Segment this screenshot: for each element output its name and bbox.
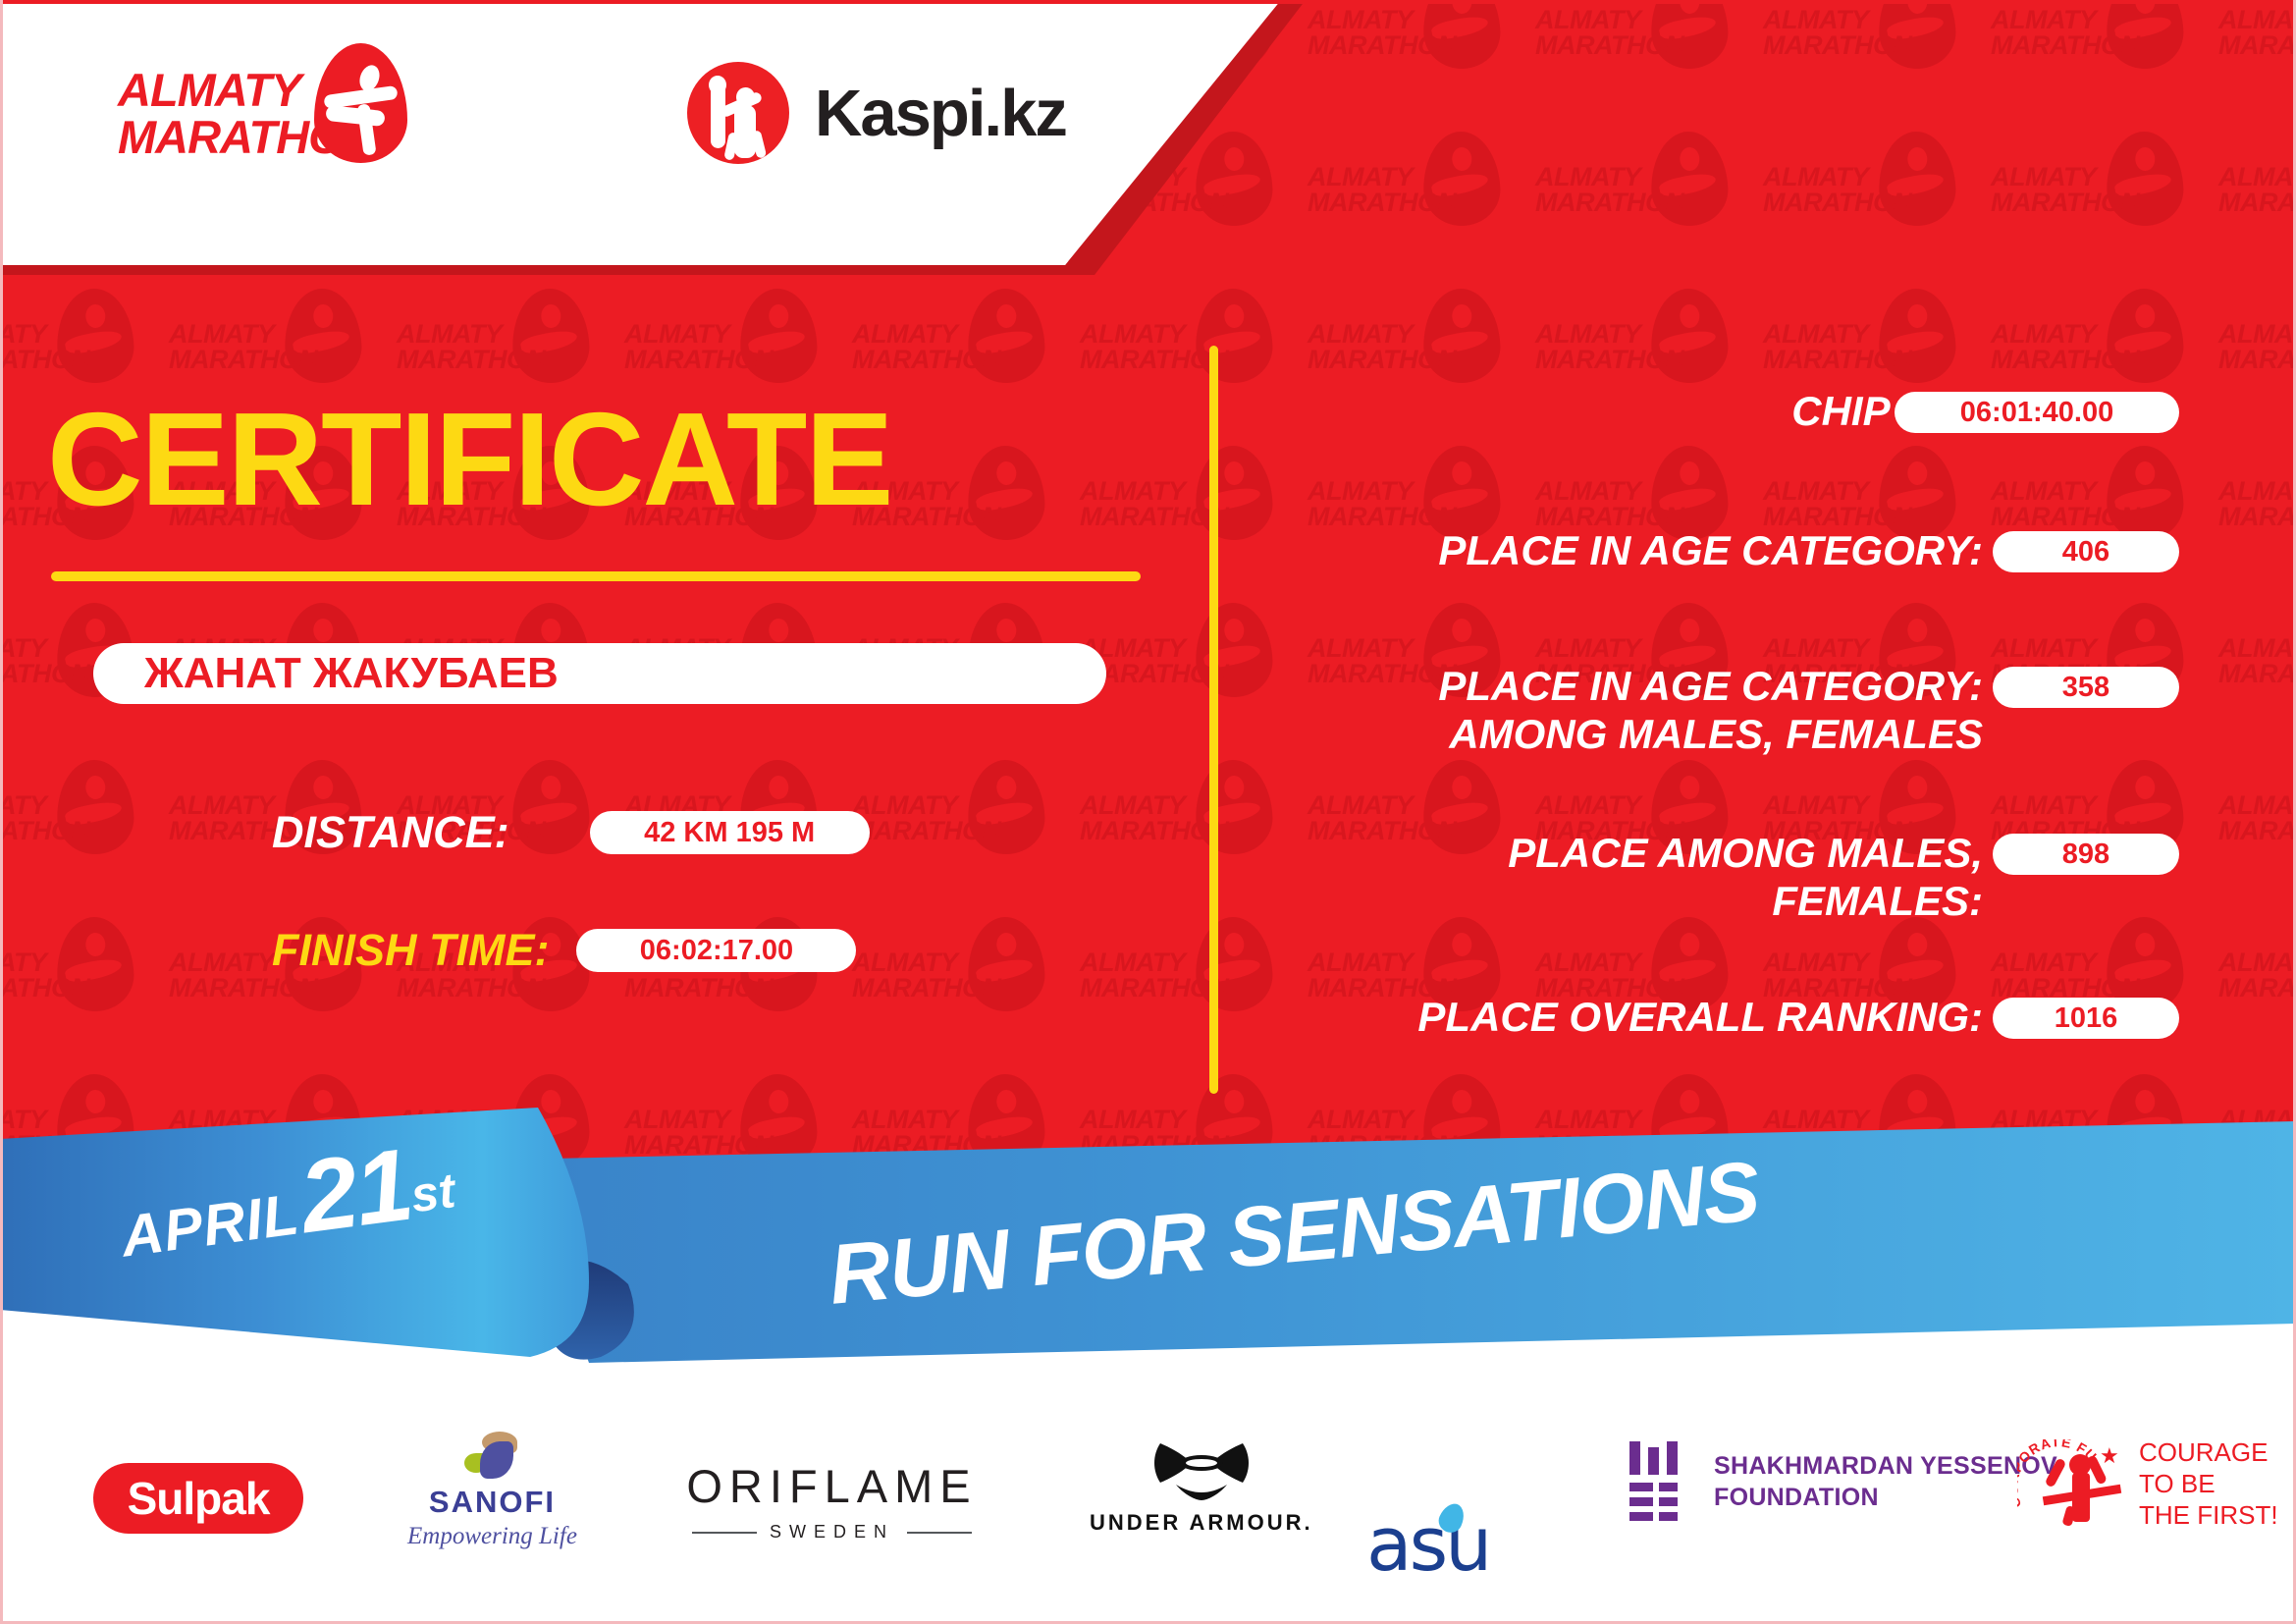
watermark-text: ALMATYMARATHON xyxy=(1080,793,1217,843)
watermark-tile: ALMATYMARATHON xyxy=(1763,442,1991,599)
participant-name-value: ЖАНАТ ЖАКУБАЕВ xyxy=(93,649,559,698)
watermark-text: ALMATYMARATHON xyxy=(1080,322,1217,372)
watermark-tile: ALMATYMARATHON xyxy=(852,913,1080,1070)
sanofi-blue-shape xyxy=(480,1441,513,1479)
watermark-text: ALMATYMARATHON xyxy=(0,636,79,686)
watermark-tile: ALMATYMARATHON xyxy=(1535,913,1763,1070)
certificate-page: ALMATYMARATHONALMATYMARATHONALMATYMARATH… xyxy=(0,0,2296,1624)
watermark-tile: ALMATYMARATHON xyxy=(2218,1070,2296,1227)
place-among-males-females-value: 898 xyxy=(1993,834,2179,875)
kaspi-child-head xyxy=(736,87,755,107)
watermark-text: ALMATYMARATHON xyxy=(1991,322,2128,372)
watermark-text: ALMATYMARATHON xyxy=(1991,8,2128,58)
sponsor-courage-to-be-the-first: CORPORATE FUND ★ COURAGE TO BE THE FIRST… xyxy=(2017,1434,2278,1536)
watermark-text: ALMATYMARATHON xyxy=(2218,322,2296,372)
watermark-tile: ALMATYMARATHON xyxy=(0,913,169,1070)
watermark-text: ALMATYMARATHON xyxy=(852,950,989,1001)
asu-wordmark: asu xyxy=(1366,1507,1489,1582)
star-icon: ★ xyxy=(2100,1445,2119,1467)
watermark-text: ALMATYMARATHON xyxy=(1308,479,1445,529)
courage-to-be-the-first-text: COURAGE TO BE THE FIRST! xyxy=(2139,1437,2278,1531)
watermark-text: ALMATYMARATHON xyxy=(1080,479,1217,529)
participant-name-field: ЖАНАТ ЖАКУБАЕВ xyxy=(93,643,1106,704)
ribbon-ordinal: st xyxy=(407,1163,457,1222)
sanofi-logo xyxy=(462,1432,521,1481)
kaspi-wordmark: Kaspi.kz xyxy=(815,81,1066,146)
sanofi-wordmark: SANOFI xyxy=(429,1487,556,1517)
watermark-tile: ALMATYMARATHON xyxy=(1763,0,1991,128)
courage-to-be-the-first-logo: CORPORATE FUND ★ xyxy=(2017,1434,2125,1536)
watermark-tile: ALMATYMARATHON xyxy=(2218,128,2296,285)
watermark-text: ALMATYMARATHON xyxy=(2218,636,2296,686)
watermark-text: ALMATYMARATHON xyxy=(0,793,79,843)
watermark-text: ALMATYMARATHON xyxy=(852,1108,989,1158)
sponsor-yessenov-foundation: SHAKHMARDAN YESSENOV FOUNDATION xyxy=(1629,1441,2057,1522)
watermark-text: ALMATYMARATHON xyxy=(2218,1108,2296,1158)
distance-value: 42 KM 195 M xyxy=(590,811,870,854)
watermark-tile: ALMATYMARATHON xyxy=(1535,0,1763,128)
sulpak-logo: Sulpak xyxy=(93,1463,303,1534)
watermark-text: ALMATYMARATHON xyxy=(2218,165,2296,215)
watermark-tile: ALMATYMARATHON xyxy=(2218,913,2296,1070)
watermark-text: ALMATYMARATHON xyxy=(1991,479,2128,529)
kaspi-family-circle-icon xyxy=(687,62,789,164)
sponsor-sanofi: SANOFI Empowering Life xyxy=(407,1432,577,1550)
watermark-text: ALMATYMARATHON xyxy=(1991,1108,2128,1158)
ribbon-day: 21 xyxy=(294,1128,417,1256)
watermark-tile: ALMATYMARATHON xyxy=(0,756,169,913)
ribbon-month: APRIL xyxy=(118,1181,303,1269)
finish-time-row: FINISH TIME: 06:02:17.00 xyxy=(272,925,856,976)
watermark-text: ALMATYMARATHON xyxy=(2218,950,2296,1001)
distance-row: DISTANCE: 42 KM 195 M xyxy=(272,807,870,858)
chip-time-value: 06:01:40.00 xyxy=(1895,392,2179,433)
sponsor-bar: Sulpak SANOFI Empowering Life ORIFLAME S… xyxy=(0,1414,2296,1600)
place-in-age-category-value: 406 xyxy=(1993,531,2179,572)
watermark-text: ALMATYMARATHON xyxy=(1308,322,1445,372)
place-among-males-females-label: PLACE AMONG MALES, FEMALES: xyxy=(1306,830,1983,925)
watermark-text: ALMATYMARATHON xyxy=(2218,479,2296,529)
watermark-tile: ALMATYMARATHON xyxy=(1991,0,2218,128)
watermark-tile: ALMATYMARATHON xyxy=(2218,285,2296,442)
sponsor-oriflame: ORIFLAME SWEDEN xyxy=(692,1463,972,1543)
column-divider xyxy=(1209,346,1218,1094)
watermark-tile: ALMATYMARATHON xyxy=(1763,1070,1991,1227)
sponsor-under-armour: UNDER ARMOUR. xyxy=(1090,1441,1313,1536)
place-in-age-category-among-label: PLACE IN AGE CATEGORY: AMONG MALES, FEMA… xyxy=(1306,663,1983,758)
frame-top-border xyxy=(0,0,2296,4)
watermark-tile: ALMATYMARATHON xyxy=(852,756,1080,913)
watermark-tile: ALMATYMARATHON xyxy=(1991,128,2218,285)
under-armour-logo xyxy=(1152,1441,1251,1502)
under-armour-wordmark: UNDER ARMOUR. xyxy=(1090,1510,1313,1536)
place-in-age-category-label: PLACE IN AGE CATEGORY: xyxy=(1306,527,1983,575)
ribbon-fold xyxy=(538,1259,634,1359)
watermark-text: ALMATYMARATHON xyxy=(1763,479,1900,529)
watermark-text: ALMATYMARATHON xyxy=(852,793,989,843)
yessenov-foundation-logo xyxy=(1629,1441,1692,1522)
watermark-text: ALMATYMARATHON xyxy=(1535,479,1673,529)
watermark-text: ALMATYMARATHON xyxy=(2218,793,2296,843)
distance-label: DISTANCE: xyxy=(272,807,509,858)
watermark-text: ALMATYMARATHON xyxy=(0,322,79,372)
title-underline-rule xyxy=(51,571,1141,581)
oriflame-wordmark: ORIFLAME xyxy=(686,1463,977,1509)
watermark-text: ALMATYMARATHON xyxy=(0,1108,79,1158)
watermark-text: ALMATYMARATHON xyxy=(1080,1108,1217,1158)
place-overall-ranking-value: 1016 xyxy=(1993,998,2179,1039)
watermark-text: ALMATYMARATHON xyxy=(852,322,989,372)
watermark-tile: ALMATYMARATHON xyxy=(2218,0,2296,128)
watermark-tile: ALMATYMARATHON xyxy=(1308,913,1535,1070)
sponsor-asu: asu xyxy=(1366,1507,1489,1582)
watermark-tile: ALMATYMARATHON xyxy=(1308,0,1535,128)
watermark-tile: ALMATYMARATHON xyxy=(1763,128,1991,285)
oriflame-sub-row: SWEDEN xyxy=(692,1522,972,1543)
place-in-age-category-among-value: 358 xyxy=(1993,667,2179,708)
watermark-tile: ALMATYMARATHON xyxy=(2218,599,2296,756)
corporate-fund-arc-text: CORPORATE FUND xyxy=(2017,1439,2104,1526)
watermark-text: ALMATYMARATHON xyxy=(1763,1108,1900,1158)
watermark-tile: ALMATYMARATHON xyxy=(1080,599,1308,756)
finish-time-label: FINISH TIME: xyxy=(272,925,549,976)
running-droplet-icon xyxy=(314,43,407,163)
watermark-tile: ALMATYMARATHON xyxy=(2218,756,2296,913)
watermark-text: ALMATYMARATHON xyxy=(2218,8,2296,58)
watermark-tile: ALMATYMARATHON xyxy=(1080,756,1308,913)
almaty-marathon-logo: ALMATY MARATHON xyxy=(118,45,442,173)
watermark-text: ALMATYMARATHON xyxy=(1991,165,2128,215)
watermark-tile: ALMATYMARATHON xyxy=(624,1070,852,1227)
watermark-tile: ALMATYMARATHON xyxy=(1991,442,2218,599)
oriflame-sub-text: SWEDEN xyxy=(770,1522,894,1543)
finish-time-value: 06:02:17.00 xyxy=(576,929,856,972)
watermark-text: ALMATYMARATHON xyxy=(1763,165,1900,215)
runner-leg-shape xyxy=(325,105,385,127)
sanofi-tagline: Empowering Life xyxy=(407,1523,577,1550)
oriflame-rule-right xyxy=(907,1532,972,1534)
page-title: CERTIFICATE xyxy=(47,393,891,525)
watermark-tile: ALMATYMARATHON xyxy=(1535,442,1763,599)
watermark-tile: ALMATYMARATHON xyxy=(1535,128,1763,285)
frame-left-border xyxy=(0,0,3,1624)
watermark-text: ALMATYMARATHON xyxy=(624,1108,762,1158)
watermark-tile: ALMATYMARATHON xyxy=(1080,913,1308,1070)
watermark-tile: ALMATYMARATHON xyxy=(1308,442,1535,599)
watermark-text: ALMATYMARATHON xyxy=(1535,1108,1673,1158)
watermark-text: ALMATYMARATHON xyxy=(1308,165,1445,215)
watermark-text: ALMATYMARATHON xyxy=(1308,1108,1445,1158)
watermark-tile: ALMATYMARATHON xyxy=(1763,913,1991,1070)
watermark-text: ALMATYMARATHON xyxy=(1308,8,1445,58)
watermark-text: ALMATYMARATHON xyxy=(1535,8,1673,58)
watermark-tile: ALMATYMARATHON xyxy=(1991,1070,2218,1227)
watermark-text: ALMATYMARATHON xyxy=(0,950,79,1001)
watermark-text: ALMATYMARATHON xyxy=(397,322,534,372)
watermark-text: ALMATYMARATHON xyxy=(1535,165,1673,215)
yessenov-foundation-wordmark: SHAKHMARDAN YESSENOV FOUNDATION xyxy=(1714,1450,2057,1513)
watermark-tile: ALMATYMARATHON xyxy=(1991,913,2218,1070)
watermark-tile: ALMATYMARATHON xyxy=(2218,442,2296,599)
watermark-text: ALMATYMARATHON xyxy=(1763,8,1900,58)
place-overall-ranking-label: PLACE OVERALL RANKING: xyxy=(1266,994,1983,1042)
sponsor-sulpak: Sulpak xyxy=(93,1463,303,1534)
watermark-text: ALMATYMARATHON xyxy=(1991,950,2128,1001)
kaspi-logo: Kaspi.kz xyxy=(687,59,1066,167)
watermark-tile: ALMATYMARATHON xyxy=(1080,285,1308,442)
watermark-text: ALMATYMARATHON xyxy=(169,322,306,372)
watermark-text: ALMATYMARATHON xyxy=(624,322,762,372)
oriflame-rule-left xyxy=(692,1532,757,1534)
watermark-tile: ALMATYMARATHON xyxy=(852,1070,1080,1227)
watermark-text: ALMATYMARATHON xyxy=(1535,322,1673,372)
watermark-text: ALMATYMARATHON xyxy=(1763,322,1900,372)
watermark-text: ALMATYMARATHON xyxy=(1080,950,1217,1001)
watermark-tile: ALMATYMARATHON xyxy=(1308,128,1535,285)
